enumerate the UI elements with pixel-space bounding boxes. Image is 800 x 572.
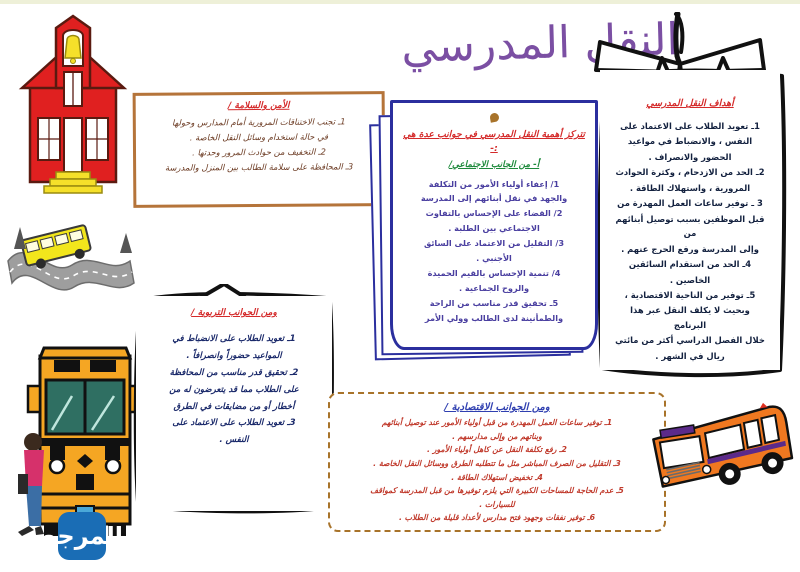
- importance-box-list: 1/ إعفاء أولياء الأمور من التكلفة والجهد…: [403, 178, 585, 326]
- list-item: 3ـ التقليل من الصرف المباشر مثل ما تتطلب…: [340, 458, 654, 471]
- list-item: على الطلاب مما قد يتعرضون له من: [148, 383, 320, 399]
- list-item: 1/ إعفاء أولياء الأمور من التكلفة: [403, 178, 585, 192]
- list-item: 3 ـ توفير ساعات العمل المهدرة من: [614, 196, 766, 210]
- educational-box: ومن الجوانب التربوية / 1ـ تعويد الطلاب ع…: [136, 296, 332, 511]
- list-item: النفس .: [148, 433, 320, 449]
- list-item: قبل الموظفين بسبب توصيل أبنائهم من: [614, 212, 766, 241]
- list-item: للسيارات .: [340, 499, 654, 512]
- list-item: 1ـ توفير ساعات العمل المهدرة من قبل أولي…: [340, 417, 654, 430]
- watermark-label: المرجع: [41, 524, 123, 548]
- educational-box-title: ومن الجوانب التربوية /: [148, 308, 320, 318]
- list-item: ريال في الشهر .: [614, 349, 766, 363]
- list-item: 5ـ توفير من الناحية الاقتصادية ،: [614, 288, 766, 302]
- list-item: 2ـ رفع تكلفة النقل عن كاهل أولياء الأمور…: [340, 444, 654, 457]
- list-item: 3ـ المحافظة على سلامة الطالب بين المنزل …: [144, 160, 374, 175]
- list-item: والجهد في نقل أبنائهم إلى المدرسة: [403, 192, 585, 206]
- watermark-logo: المرجع: [58, 512, 106, 560]
- list-item: 2ـ تحقيق قدر مناسب من المحافظة: [148, 366, 320, 382]
- list-item: 6ـ توفير نفقات وجهود فتح مدارس لأعداد قل…: [340, 512, 654, 525]
- list-item: المرورية ، واستهلاك الطاقة .: [614, 181, 766, 195]
- yellow-school-bus-on-winding-road-icon: [2, 209, 140, 319]
- red-schoolhouse-icon: [14, 14, 132, 204]
- importance-box-heading: تتركز أهمية النقل المدرسي في جوانب عدة ه…: [403, 128, 585, 157]
- goals-box-title: أهداف النقل المدرسي: [614, 98, 766, 109]
- educational-box-list: 1ـ تعويد الطلاب على الانضباط في المواعيد…: [148, 332, 320, 449]
- list-item: 1ـ تجنب الاختناقات المرورية أمام المدارس…: [144, 115, 374, 130]
- list-item: المواعيد حضوراً وانصرافاً .: [148, 349, 320, 365]
- list-item: 3ـ تعويد الطلاب على الاعتماد على: [148, 416, 320, 432]
- list-item: 5ـ تحقيق قدر مناسب من الراحة: [403, 297, 585, 311]
- list-item: 1ـ تعويد الطلاب على الاعتماد على: [614, 119, 766, 133]
- list-item: 2ـ التخفيف من حوادث المرور وحدتها .: [144, 145, 374, 160]
- economic-box: ومن الجوانب الاقتصادية / 1ـ توفير ساعات …: [328, 392, 666, 532]
- list-item: الاجتماعي بين الطلبة .: [403, 222, 585, 236]
- list-item: الأجنبي .: [403, 252, 585, 266]
- list-item: 1ـ تعويد الطلاب على الانضباط في: [148, 332, 320, 348]
- list-item: أخطار أو من مضايقات في الطرق: [148, 400, 320, 416]
- poster-canvas: النقل المدرسي: [0, 0, 800, 572]
- goals-box-list: 1ـ تعويد الطلاب على الاعتماد على النفس ،…: [614, 119, 766, 363]
- list-item: والروح الجماعية .: [403, 282, 585, 296]
- safety-box-list: 1ـ تجنب الاختناقات المرورية أمام المدارس…: [144, 115, 374, 175]
- importance-box-subheading: أ- من الجانب الاجتماعي/: [403, 160, 585, 170]
- list-item: الخاصين .: [614, 273, 766, 287]
- list-item: 2/ القضاء على الإحساس بالتفاوت: [403, 207, 585, 221]
- decorative-bullet-icon: [489, 112, 499, 122]
- list-item: 2ـ الحد من الازدحام ، وكثرة الحوادث: [614, 165, 766, 179]
- list-item: والطمأنينة لدى الطالب وولي الأمر: [403, 312, 585, 326]
- list-item: 5ـ عدم الحاجة للمساحات الكبيرة التي يلزم…: [340, 485, 654, 498]
- list-item: وبناتهم من وإلى مدارسهم .: [340, 431, 654, 444]
- importance-box: تتركز أهمية النقل المدرسي في جوانب عدة ه…: [390, 100, 598, 350]
- goals-box: أهداف النقل المدرسي 1ـ تعويد الطلاب على …: [600, 70, 780, 370]
- list-item: 4ـ الحد من استقدام السائقين: [614, 257, 766, 271]
- economic-box-list: 1ـ توفير ساعات العمل المهدرة من قبل أولي…: [340, 417, 654, 525]
- list-item: 4/ تنمية الإحساس بالقيم الحميدة: [403, 267, 585, 281]
- safety-box-title: الأمن والسلامة /: [144, 100, 374, 112]
- list-item: 4ـ تخفيض استهلاك الطاقة .: [340, 472, 654, 485]
- list-item: وإلى المدرسة ورفع الحرج عنهم .: [614, 242, 766, 256]
- list-item: النفس ، والانضباط في مواعيد: [614, 134, 766, 148]
- economic-box-title: ومن الجوانب الاقتصادية /: [340, 402, 654, 413]
- list-item: 3/ التقليل من الاعتماد على السائق: [403, 237, 585, 251]
- safety-box: الأمن والسلامة / 1ـ تجنب الاختناقات المر…: [133, 91, 386, 208]
- list-item: الحضور والانصراف .: [614, 150, 766, 164]
- importance-box-stack: تتركز أهمية النقل المدرسي في جوانب عدة ه…: [372, 100, 600, 362]
- orange-bus-icon: [648, 399, 794, 504]
- list-item: في حالة استخدام وسائل النقل الخاصة .: [144, 130, 374, 145]
- list-item: وبحيث لا يكلف النقل عبر هذا البرنامج: [614, 303, 766, 332]
- list-item: خلال الفصل الدراسي أكثر من مائتي: [614, 333, 766, 347]
